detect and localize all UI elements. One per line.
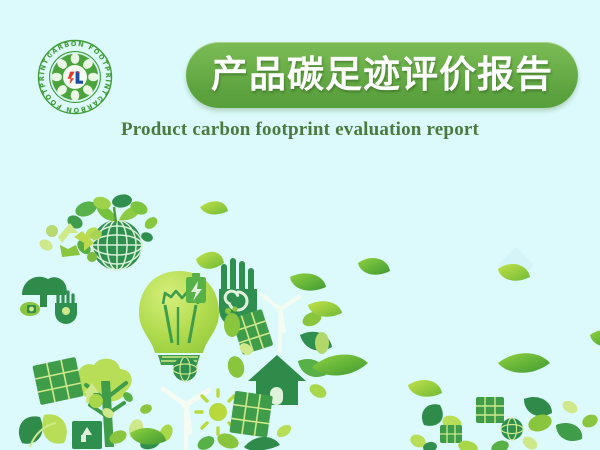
report-cover-page: CARBON FOOTPRINT · CARBON FOOTPRINT ·	[0, 0, 600, 450]
eco-icon-footprint-illustration	[0, 185, 600, 450]
solar-panel-icon-left	[32, 357, 83, 405]
hand-with-spiral-icon-small	[55, 290, 77, 324]
battery-icon	[186, 273, 206, 303]
light-bulb-icon	[139, 271, 219, 365]
recycle-box-icon	[72, 421, 102, 449]
page-title-cn: 产品碳足迹评价报告	[211, 56, 553, 95]
title-banner: 产品碳足迹评价报告	[186, 42, 578, 108]
carbon-footprint-seal-logo: CARBON FOOTPRINT · CARBON FOOTPRINT ·	[36, 38, 114, 116]
eco-cluster-bottom-right	[408, 397, 600, 450]
globe-small-icon	[173, 357, 197, 381]
leaf-pair-icon	[19, 414, 67, 447]
page-subtitle-en: Product carbon footprint evaluation repo…	[0, 119, 600, 141]
solar-panel-icon-lower	[229, 391, 272, 438]
cover-header: CARBON FOOTPRINT · CARBON FOOTPRINT ·	[0, 0, 600, 160]
